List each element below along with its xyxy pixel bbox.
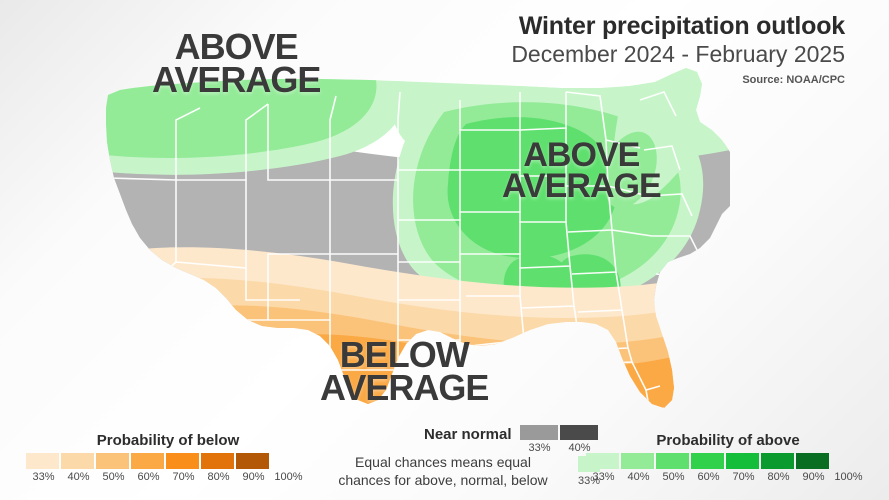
equal-chances-line2: chances for above, normal, below	[318, 472, 568, 490]
legend-below-tick-5: 80%	[201, 471, 236, 483]
legend-above-swatch-1	[621, 453, 654, 469]
legend-above-tick-6: 90%	[796, 471, 831, 483]
legend-near-normal-swatch-0	[520, 425, 558, 440]
legend-below-tick-7: 100%	[271, 471, 306, 483]
legend-below-swatch-1	[61, 453, 94, 469]
legend-above-title: Probability of above	[590, 432, 866, 449]
map-label-above-average-great-lakes: ABOVE AVERAGE	[502, 140, 661, 203]
legend-below-tick-2: 50%	[96, 471, 131, 483]
legend-below-tick-4: 70%	[166, 471, 201, 483]
map-label-below-average-south: BELOW AVERAGE	[320, 338, 488, 404]
legend-above-tick-3: 60%	[691, 471, 726, 483]
legend-below-swatch-5	[201, 453, 234, 469]
legend-below-ticks: 33%40%50%60%70%80%90%100%	[26, 471, 306, 483]
map-label-line2: AVERAGE	[152, 63, 320, 96]
map-label-above-average-northwest: ABOVE AVERAGE	[152, 30, 320, 96]
legend-above-tick-5: 80%	[761, 471, 796, 483]
legend-above-tick-0: 33%	[586, 471, 621, 483]
legend-above-swatch-5	[761, 453, 794, 469]
legend-below-tick-6: 90%	[236, 471, 271, 483]
map-label-line2: AVERAGE	[320, 371, 488, 404]
legend-above-swatch-6	[796, 453, 829, 469]
header: Winter precipitation outlook December 20…	[511, 12, 845, 86]
legend-above-swatch-3	[691, 453, 724, 469]
legend-probability-of-above: Probability of above 33%40%50%60%70%80%9…	[586, 432, 866, 483]
equal-chances-note: Equal chances means equal chances for ab…	[318, 454, 568, 489]
source-attribution: Source: NOAA/CPC	[511, 74, 845, 86]
date-range-subtitle: December 2024 - February 2025	[511, 41, 845, 69]
legend-above-swatch-2	[656, 453, 689, 469]
legend-below-swatches	[26, 453, 306, 469]
page-title: Winter precipitation outlook	[511, 12, 845, 40]
outlook-infographic: ABOVE AVERAGE ABOVE AVERAGE BELOW AVERAG…	[0, 0, 889, 500]
legend-near-normal: Near normal 33%40%	[424, 425, 600, 454]
legend-below-swatch-2	[96, 453, 129, 469]
legend-probability-of-below: Probability of below 33%40%50%60%70%80%9…	[26, 432, 306, 483]
legend-above-swatch-0	[586, 453, 619, 469]
legend-near-normal-tick-0: 33%	[520, 442, 560, 454]
map-label-line2: AVERAGE	[502, 171, 661, 202]
legend-near-normal-title: Near normal	[424, 425, 512, 443]
legend-below-tick-1: 40%	[61, 471, 96, 483]
legend-below-swatch-0	[26, 453, 59, 469]
legend-above-tick-1: 40%	[621, 471, 656, 483]
legend-below-tick-0: 33%	[26, 471, 61, 483]
legend-above-swatch-4	[726, 453, 759, 469]
legend-below-swatch-4	[166, 453, 199, 469]
legend-below-tick-3: 60%	[131, 471, 166, 483]
legend-above-tick-2: 50%	[656, 471, 691, 483]
equal-chances-line1: Equal chances means equal	[318, 454, 568, 472]
legend-above-tick-4: 70%	[726, 471, 761, 483]
legend-below-swatch-6	[236, 453, 269, 469]
legend-above-tick-7: 100%	[831, 471, 866, 483]
legend-below-swatch-3	[131, 453, 164, 469]
legend-above-swatches	[586, 453, 866, 469]
legend-below-title: Probability of below	[30, 432, 306, 449]
legend-above-ticks: 33%40%50%60%70%80%90%100%	[586, 471, 866, 483]
